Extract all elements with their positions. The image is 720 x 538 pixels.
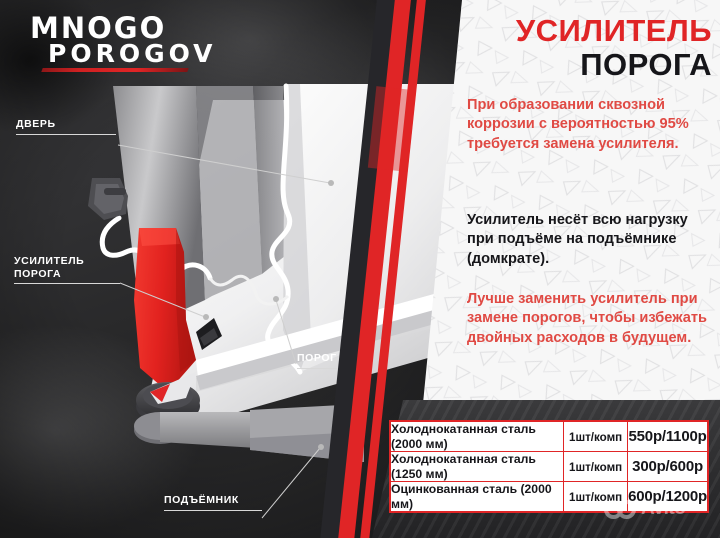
- paragraph-advice: Лучше заменить усилитель при замене поро…: [467, 290, 715, 348]
- table-cell-name: Оцинкованная сталь (2000 мм): [390, 482, 564, 513]
- row-name-text: Холоднокатанная сталь (2000 мм): [391, 422, 563, 451]
- callout-door: Дверь: [16, 118, 116, 135]
- row-price-text: 300р/600р: [632, 458, 703, 475]
- table-cell-name: Холоднокатанная сталь (1250 мм): [390, 452, 564, 482]
- callout-jack: Подъёмник: [164, 494, 262, 511]
- brand-logo-line2: POROGOV: [30, 41, 200, 66]
- callout-reinforcement: Усилитель порога: [14, 255, 120, 284]
- table-cell-qty: 1шт/комп: [564, 452, 628, 482]
- paragraph-load: Усилитель несёт всю нагрузку при подъёме…: [467, 211, 715, 269]
- callout-door-label: Дверь: [16, 118, 116, 131]
- callout-jack-label: Подъёмник: [164, 494, 262, 507]
- poster-canvas: Дверь Усилитель порога Порог Подъёмник: [0, 0, 720, 538]
- page-title-line1: УСИЛИТЕЛЬ: [460, 14, 712, 48]
- row-name-text: Холоднокатанная сталь (1250 мм): [391, 452, 563, 481]
- price-table-body: Холоднокатанная сталь (2000 мм) 1шт/комп…: [390, 421, 708, 512]
- table-cell-name: Холоднокатанная сталь (2000 мм): [390, 421, 564, 452]
- callout-door-rule: [16, 134, 116, 135]
- table-row: Холоднокатанная сталь (2000 мм) 1шт/комп…: [390, 421, 708, 452]
- table-cell-price: 600р/1200р: [628, 482, 708, 513]
- brand-logo-underline: [41, 68, 188, 72]
- price-table: Холоднокатанная сталь (2000 мм) 1шт/комп…: [389, 420, 709, 513]
- row-qty-text: 1шт/комп: [569, 491, 622, 504]
- row-qty-text: 1шт/комп: [569, 431, 622, 444]
- brand-logo[interactable]: MNOGO POROGOV: [30, 14, 200, 72]
- page-title-line2: ПОРОГА: [460, 48, 712, 82]
- paragraph-corrosion: При образовании сквозной коррозии с веро…: [467, 96, 715, 154]
- table-cell-price: 300р/600р: [628, 452, 708, 482]
- table-row: Холоднокатанная сталь (1250 мм) 1шт/комп…: [390, 452, 708, 482]
- divider-stripe-pink-accent: [368, 86, 416, 172]
- row-price-text: 600р/1200р: [628, 488, 707, 505]
- row-price-text: 550р/1100р: [629, 428, 707, 445]
- callout-jack-rule: [164, 510, 262, 511]
- callout-reinforcement-label: Усилитель порога: [14, 255, 120, 280]
- row-qty-text: 1шт/комп: [569, 461, 622, 474]
- callout-reinforcement-rule: [14, 283, 120, 284]
- table-cell-qty: 1шт/комп: [564, 482, 628, 513]
- table-row: Оцинкованная сталь (2000 мм) 1шт/комп 60…: [390, 482, 708, 513]
- table-cell-price: 550р/1100р: [628, 421, 708, 452]
- table-cell-qty: 1шт/комп: [564, 421, 628, 452]
- page-title: УСИЛИТЕЛЬ ПОРОГА: [460, 14, 712, 82]
- row-name-text: Оцинкованная сталь (2000 мм): [391, 482, 563, 511]
